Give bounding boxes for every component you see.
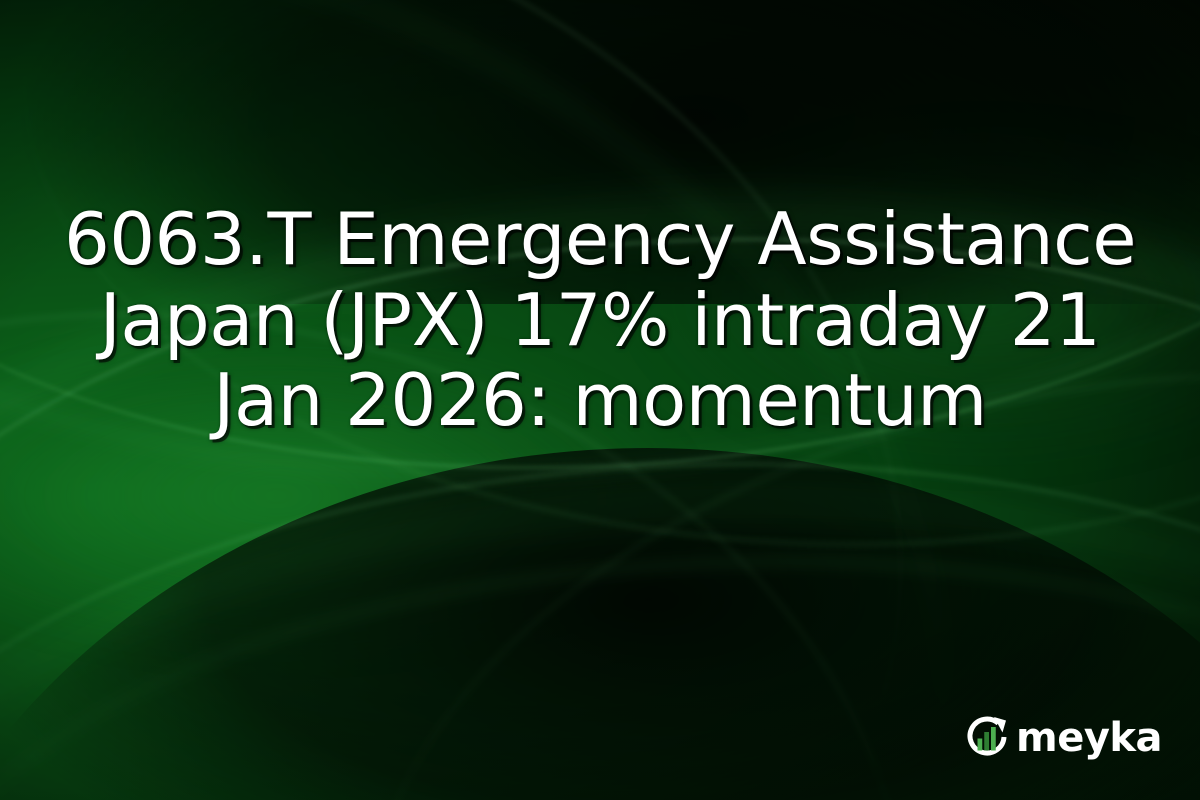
- meyka-circular-chart-logo-icon: [962, 712, 1012, 762]
- brand-name: meyka: [1016, 718, 1162, 758]
- brand-logo[interactable]: meyka: [962, 712, 1162, 762]
- social-share-card: 6063.T Emergency Assistance Japan (JPX) …: [0, 0, 1200, 800]
- card-headline: 6063.T Emergency Assistance Japan (JPX) …: [46, 199, 1154, 441]
- headline-container: 6063.T Emergency Assistance Japan (JPX) …: [0, 0, 1200, 640]
